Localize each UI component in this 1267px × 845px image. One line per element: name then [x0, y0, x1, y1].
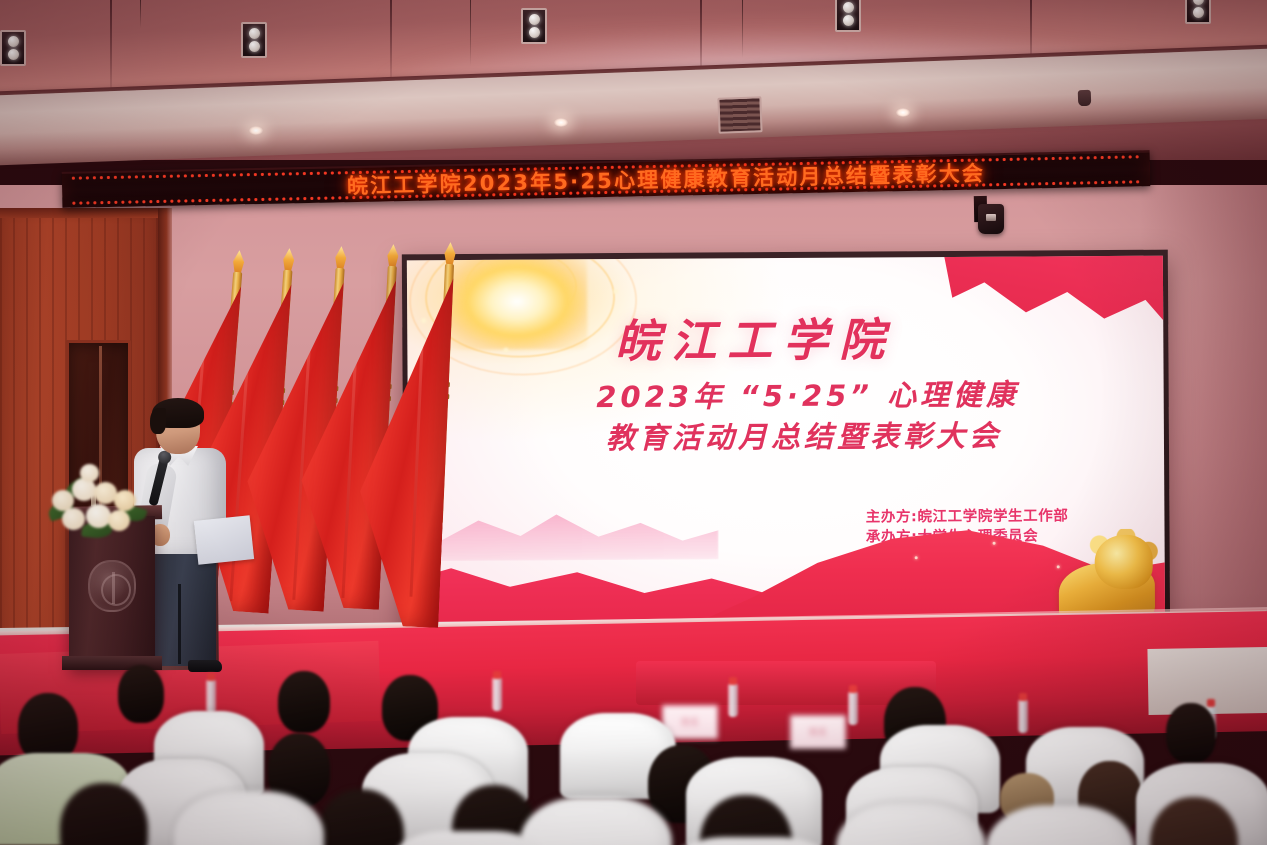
wood-panel-top-trim	[0, 208, 168, 218]
water-bottle	[206, 679, 216, 713]
stage-led-screen: 皖江工学院 2023年 “5·25” 心理健康 教育活动月总结暨表彰大会 主办方…	[402, 250, 1170, 647]
screen-subtitle-line2: 教育活动月总结暨表彰大会	[460, 415, 1142, 460]
recessed-light	[835, 0, 861, 32]
downlight	[554, 118, 568, 127]
ceiling-seam	[110, 0, 112, 92]
speech-script-icon	[194, 515, 254, 565]
ceiling-seam	[700, 0, 702, 72]
university-crest-icon	[88, 560, 136, 612]
ceiling-seam	[390, 0, 392, 80]
ceiling-wire	[140, 0, 141, 28]
ceiling-sensor-icon	[1078, 90, 1092, 106]
screen-surface: 皖江工学院 2023年 “5·25” 心理健康 教育活动月总结暨表彰大会 主办方…	[407, 256, 1165, 640]
name-placard: 姓名	[790, 715, 846, 749]
ceiling-wire	[470, 0, 471, 66]
speaker-hair-side	[150, 408, 166, 434]
organizer-line: 主办方:皖江工学院学生工作部	[866, 506, 1069, 528]
recessed-light	[241, 22, 267, 58]
audience-chair	[520, 797, 672, 845]
audience-head	[118, 665, 164, 723]
water-bottle	[848, 691, 858, 725]
water-bottle	[1018, 699, 1028, 733]
audience-seating: 姓名 姓名	[0, 655, 1267, 845]
audience-head	[1166, 703, 1216, 763]
recessed-light	[521, 8, 547, 44]
flower-bouquet-icon	[46, 462, 156, 544]
screen-subtitle: 2023年 “5·25” 心理健康 教育活动月总结暨表彰大会	[460, 374, 1142, 461]
ceiling-wire	[742, 0, 743, 58]
water-bottle	[728, 683, 738, 717]
screen-title: 皖江工学院	[407, 302, 1103, 371]
screen-subtitle-line1: 2023年 “5·25” 心理健康	[460, 374, 1142, 419]
conference-hall-scene: 皖江工学院2023年5·25心理健康教育活动月总结暨表彰大会	[0, 0, 1267, 845]
speaker-leg-seam	[178, 584, 181, 664]
water-bottle	[492, 677, 502, 711]
downlight	[896, 108, 910, 117]
air-vent-icon	[717, 96, 762, 134]
ceiling-camera-icon	[978, 204, 1004, 234]
mountain-silhouette-icon	[418, 503, 718, 561]
audience-head	[278, 671, 330, 733]
speaker-trousers	[146, 550, 216, 666]
recessed-light	[1185, 0, 1211, 24]
downlight	[249, 126, 263, 135]
recessed-light	[0, 30, 26, 66]
